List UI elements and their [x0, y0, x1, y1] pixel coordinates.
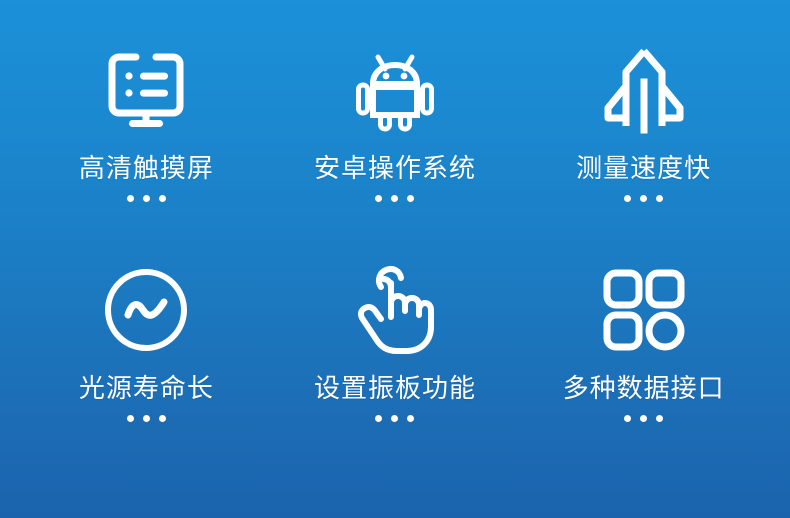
feature-label: 设置振板功能 [314, 376, 476, 402]
dot [407, 415, 414, 422]
feature-item-android-os: 安卓操作系统 [271, 34, 520, 254]
feature-item-hd-touchscreen: 高清触摸屏 [22, 34, 271, 254]
dot [391, 415, 398, 422]
dot [375, 195, 382, 202]
dot [375, 415, 382, 422]
dot [407, 195, 414, 202]
dot [159, 415, 166, 422]
dot [624, 415, 631, 422]
monitor-list-icon [103, 38, 189, 142]
grid-interfaces-icon [603, 258, 685, 362]
dot [656, 415, 663, 422]
hand-tap-icon [353, 258, 437, 362]
waveform-circle-icon [102, 258, 190, 362]
dot [159, 195, 166, 202]
dot-separator [127, 195, 166, 202]
dot [143, 195, 150, 202]
dot-separator [375, 195, 414, 202]
dot [127, 415, 134, 422]
feature-label: 多种数据接口 [563, 376, 725, 402]
android-robot-icon [355, 38, 435, 142]
feature-banner: 高清触摸屏 [0, 0, 790, 518]
dot-separator [375, 415, 414, 422]
feature-grid: 高清触摸屏 [0, 0, 790, 518]
dot-separator [127, 415, 166, 422]
feature-item-vibration-plate: 设置振板功能 [271, 254, 520, 474]
dot-separator [624, 415, 663, 422]
feature-label: 安卓操作系统 [314, 156, 476, 182]
feature-label: 测量速度快 [576, 156, 711, 182]
feature-item-data-interfaces: 多种数据接口 [519, 254, 768, 474]
feature-item-fast-measurement: 测量速度快 [519, 34, 768, 254]
dot-separator [624, 195, 663, 202]
dot [640, 195, 647, 202]
feature-label: 高清触摸屏 [79, 156, 214, 182]
dot [143, 415, 150, 422]
rocket-icon [602, 38, 686, 142]
dot [656, 195, 663, 202]
dot [624, 195, 631, 202]
feature-label: 光源寿命长 [79, 376, 214, 402]
dot [640, 415, 647, 422]
feature-item-light-source-life: 光源寿命长 [22, 254, 271, 474]
dot [127, 195, 134, 202]
dot [391, 195, 398, 202]
